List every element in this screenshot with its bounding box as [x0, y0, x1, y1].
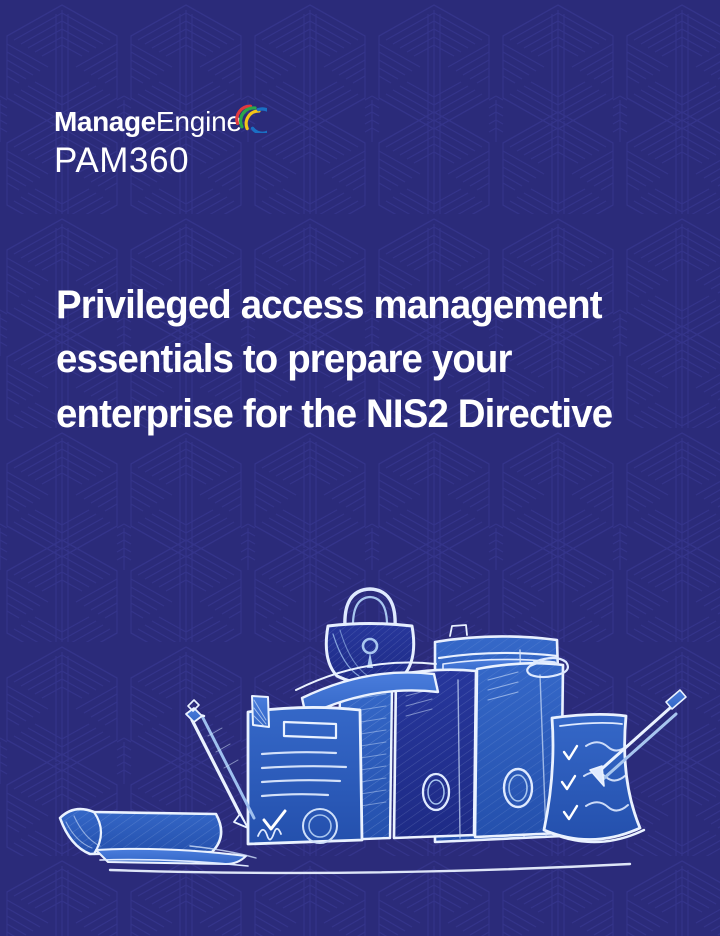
title-line-1: Privileged access management	[56, 278, 657, 332]
padlock-icon	[326, 589, 413, 684]
manageengine-swoosh-icon	[233, 99, 267, 133]
cover-page: Manage Engine PAM360 Privileged access m…	[0, 0, 720, 936]
logo-text-engine: Engine	[156, 108, 242, 136]
title-line-3: enterprise for the NIS2 Directive	[56, 387, 657, 441]
product-name: PAM360	[54, 143, 267, 178]
brand-logo: Manage Engine PAM360	[54, 108, 267, 178]
page-title: Privileged access management essentials …	[56, 278, 657, 441]
rolled-paper	[60, 809, 256, 866]
clipboard-document	[248, 696, 362, 844]
binder-middle	[394, 670, 476, 838]
checklist-page	[544, 714, 644, 842]
logo-text-manage: Manage	[54, 108, 156, 136]
title-line-2: essentials to prepare your	[56, 332, 657, 386]
pen-icon	[186, 700, 254, 828]
hero-illustration	[40, 530, 700, 880]
manageengine-wordmark: Manage Engine	[54, 108, 267, 136]
ground-line	[110, 864, 630, 873]
